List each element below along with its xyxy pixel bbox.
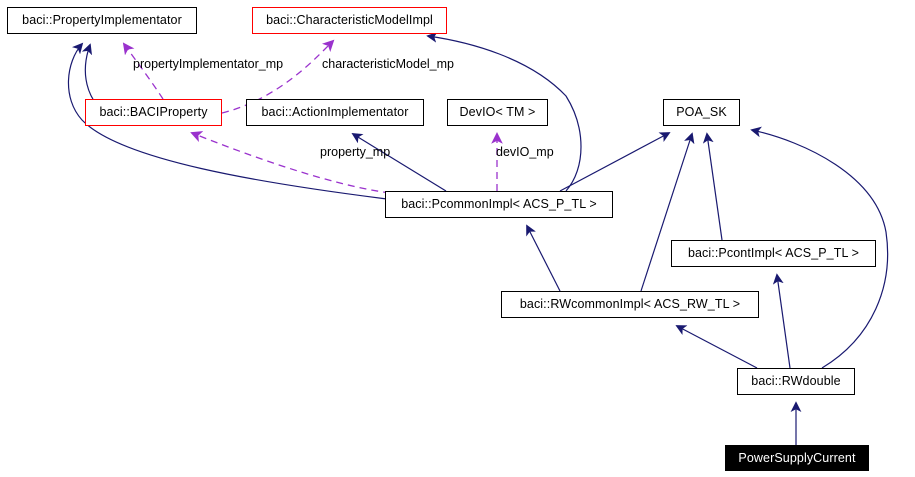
node-label: baci::CharacteristicModelImpl — [260, 14, 439, 27]
node-label: baci::PcommonImpl< ACS_P_TL > — [395, 198, 603, 211]
node-label: PowerSupplyCurrent — [732, 452, 861, 465]
node-label: baci::ActionImplementator — [255, 106, 414, 119]
edge-pcommonimpl-uses-baciproperty — [192, 133, 390, 193]
edge-label-property-implementator-mp: propertyImplementator_mp — [133, 58, 283, 71]
node-action-implementator[interactable]: baci::ActionImplementator — [246, 99, 424, 126]
edge-pcontimpl-inherits-poask — [707, 134, 722, 240]
edge-rwdouble-inherits-rwcommonimpl — [677, 326, 757, 368]
node-label: baci::PcontImpl< ACS_P_TL > — [682, 247, 865, 260]
edge-label-characteristic-model-mp: characteristicModel_mp — [322, 58, 454, 71]
node-label: baci::RWcommonImpl< ACS_RW_TL > — [514, 298, 746, 311]
edge-pcommonimpl-inherits-actionimplementator — [353, 134, 446, 191]
node-poa-sk[interactable]: POA_SK — [663, 99, 740, 126]
edge-rwdouble-inherits-pcontimpl — [777, 275, 790, 368]
class-diagram-canvas: baci::PropertyImplementator baci::Charac… — [0, 0, 915, 477]
edge-label-property-mp: property_mp — [320, 146, 390, 159]
edge-layer — [0, 0, 915, 477]
node-label: POA_SK — [670, 106, 733, 119]
node-label: DevIO< TM > — [454, 106, 542, 119]
node-pcont-impl[interactable]: baci::PcontImpl< ACS_P_TL > — [671, 240, 876, 267]
node-devio-tm[interactable]: DevIO< TM > — [447, 99, 548, 126]
edge-pcommonimpl-inherits-poask — [560, 133, 669, 191]
edge-baciproperty-inherits-propertyimplementator — [85, 45, 93, 99]
node-label: baci::RWdouble — [745, 375, 846, 388]
node-rwdouble[interactable]: baci::RWdouble — [737, 368, 855, 395]
node-characteristic-model-impl[interactable]: baci::CharacteristicModelImpl — [252, 7, 447, 34]
node-property-implementator[interactable]: baci::PropertyImplementator — [7, 7, 197, 34]
node-pcommon-impl[interactable]: baci::PcommonImpl< ACS_P_TL > — [385, 191, 613, 218]
node-rwcommon-impl[interactable]: baci::RWcommonImpl< ACS_RW_TL > — [501, 291, 759, 318]
node-baci-property[interactable]: baci::BACIProperty — [85, 99, 222, 126]
node-label: baci::BACIProperty — [93, 106, 213, 119]
edge-rwcommonimpl-inherits-poask — [641, 134, 692, 291]
edge-baciproperty-uses-propertyimplementator — [124, 44, 163, 99]
edge-rwcommonimpl-inherits-pcommonimpl — [527, 226, 560, 291]
node-label: baci::PropertyImplementator — [16, 14, 188, 27]
node-power-supply-current[interactable]: PowerSupplyCurrent — [725, 445, 869, 471]
edge-label-devio-mp: devIO_mp — [496, 146, 554, 159]
